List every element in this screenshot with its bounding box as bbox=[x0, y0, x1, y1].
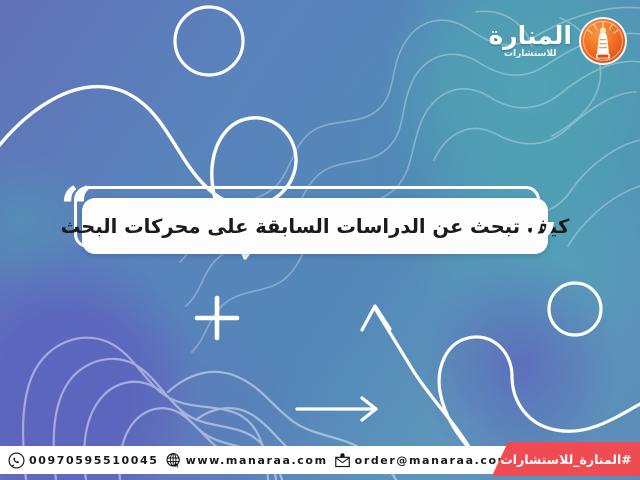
whatsapp-icon bbox=[8, 452, 25, 469]
hashtag-text: #المنارة_للاستشارات bbox=[500, 452, 632, 467]
phone-number: 00970595510045 bbox=[29, 454, 159, 467]
globe-icon bbox=[165, 452, 182, 469]
poster-canvas: المنارة للاستشارات bbox=[0, 0, 640, 480]
plus-icon bbox=[197, 298, 237, 338]
arrow-right-icon bbox=[297, 398, 376, 420]
website-url: www.manaraa.com bbox=[186, 454, 328, 467]
circle-outline-bottom-right bbox=[549, 283, 601, 335]
envelope-icon bbox=[334, 452, 351, 469]
contact-phone[interactable]: 00970595510045 bbox=[8, 452, 159, 469]
lighthouse-icon bbox=[578, 16, 628, 66]
brand-name: المنارة bbox=[489, 23, 572, 48]
contact-email[interactable]: order@manaraa.com bbox=[334, 452, 511, 469]
circle-outline-top bbox=[175, 7, 243, 75]
email-address: order@manaraa.com bbox=[355, 454, 511, 467]
quote-close-icon: ” bbox=[526, 216, 558, 272]
hashtag-banner: #المنارة_للاستشارات bbox=[492, 442, 640, 476]
brand-tagline: للاستشارات bbox=[504, 50, 557, 59]
looping-arrow-up-icon bbox=[362, 306, 640, 452]
contact-footer: 00970595510045 www.manaraa.com order@man… bbox=[0, 440, 640, 480]
headline-text: كيف تبحث عن الدراسات السابقة على محركات … bbox=[61, 215, 570, 238]
headline-block: “ كيف تبحث عن الدراسات السابقة على محركا… bbox=[60, 182, 560, 277]
brand-logo-text: المنارة للاستشارات bbox=[489, 23, 572, 59]
headline-card: كيف تبحث عن الدراسات السابقة على محركات … bbox=[82, 198, 548, 254]
footer-contact-list: 00970595510045 www.manaraa.com order@man… bbox=[8, 446, 518, 474]
brand-logo: المنارة للاستشارات bbox=[489, 16, 628, 66]
contact-website[interactable]: www.manaraa.com bbox=[165, 452, 328, 469]
